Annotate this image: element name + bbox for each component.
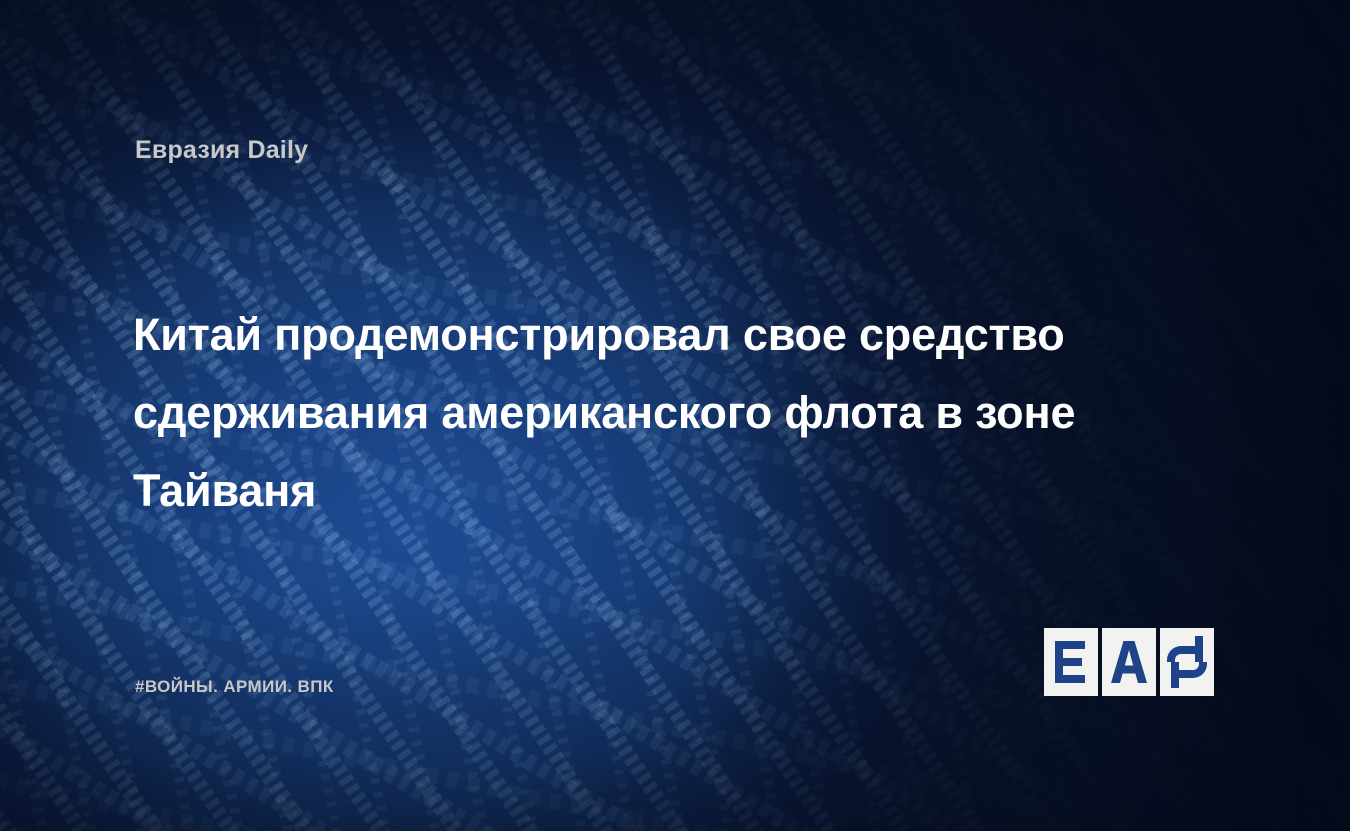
headline: Китай продемонстрировал свое средство сд… — [133, 296, 1223, 530]
card-content: Евразия Daily Китай продемонстрировал св… — [0, 0, 1350, 831]
logo-letter-d-split-icon — [1167, 636, 1207, 688]
logo-letter-a-icon — [1109, 639, 1149, 685]
category-tag[interactable]: #ВОЙНЫ. АРМИИ. ВПК — [135, 677, 334, 697]
news-card: Евразия Daily Китай продемонстрировал св… — [0, 0, 1350, 831]
logo-letter-e-icon — [1053, 639, 1089, 685]
eadaily-logo[interactable] — [1044, 628, 1214, 696]
logo-tile-e — [1044, 628, 1098, 696]
logo-tile-a — [1102, 628, 1156, 696]
site-name: Евразия Daily — [135, 136, 308, 165]
logo-tile-d-split — [1160, 628, 1214, 696]
